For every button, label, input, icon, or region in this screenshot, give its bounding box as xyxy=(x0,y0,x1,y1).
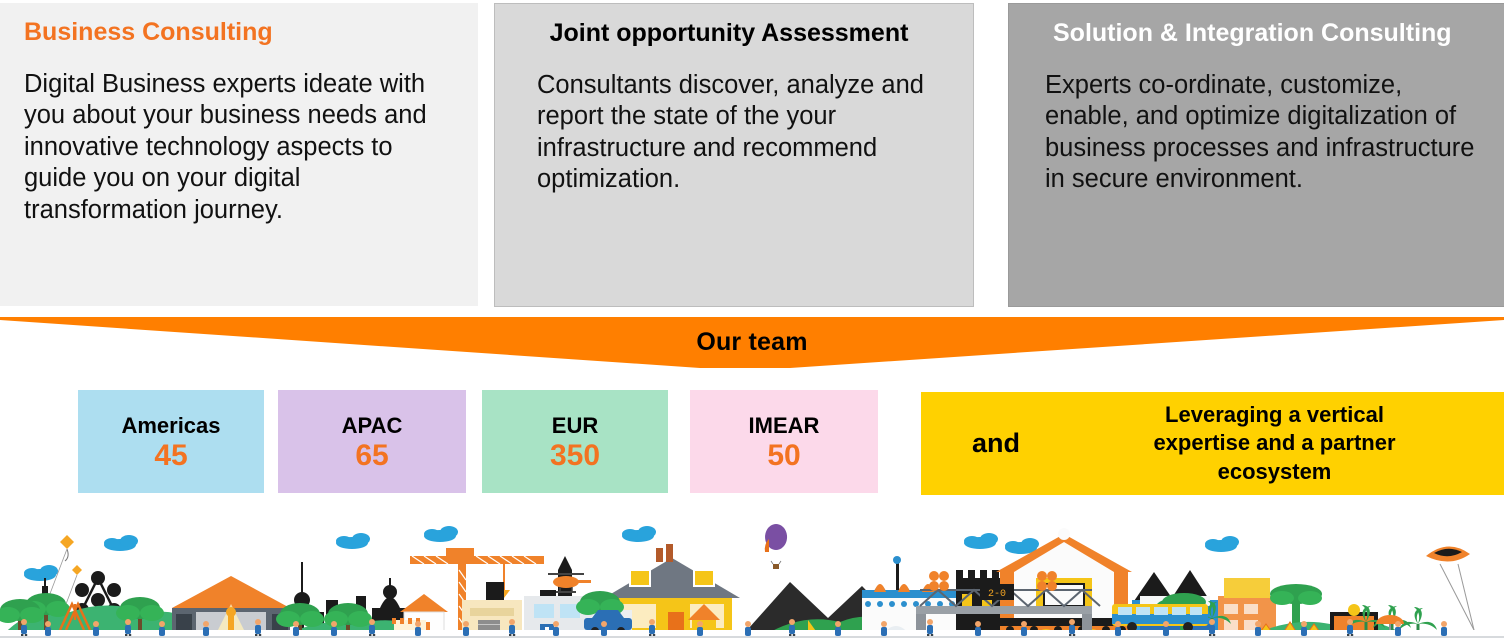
stat-box-imear: IMEAR 50 xyxy=(690,390,878,493)
panel-body-solution-integration-consulting: Experts co-ordinate, customize, enable, … xyxy=(1031,70,1482,196)
partner-conjunction-label: and xyxy=(921,428,1071,459)
stat-box-eur: EUR 350 xyxy=(482,390,668,493)
cityscape-artwork: 2-0 xyxy=(0,500,1504,638)
partner-ecosystem-text: Leveraging a vertical expertise and a pa… xyxy=(1071,401,1504,487)
our-team-banner: Our team xyxy=(0,314,1504,372)
stat-value-eur: 350 xyxy=(550,439,600,473)
panel-joint-opportunity-assessment: Joint opportunity Assessment Consultants… xyxy=(494,3,974,307)
panel-body-joint-opportunity-assessment: Consultants discover, analyze and report… xyxy=(517,70,951,196)
partner-ecosystem-box: and Leveraging a vertical expertise and … xyxy=(921,392,1504,495)
stat-value-apac: 65 xyxy=(355,439,388,473)
stat-label-imear: IMEAR xyxy=(749,414,820,439)
stat-value-imear: 50 xyxy=(767,439,800,473)
stat-box-apac: APAC 65 xyxy=(278,390,466,493)
stat-label-eur: EUR xyxy=(552,414,598,439)
stat-label-apac: APAC xyxy=(342,414,403,439)
panel-solution-integration-consulting: Solution & Integration Consulting Expert… xyxy=(1008,3,1504,307)
svg-text:2-0: 2-0 xyxy=(988,589,1006,600)
panel-title-solution-integration-consulting: Solution & Integration Consulting xyxy=(1031,20,1482,48)
slide-canvas: Business Consulting Digital Business exp… xyxy=(0,0,1504,638)
panel-business-consulting: Business Consulting Digital Business exp… xyxy=(0,3,478,306)
stat-label-americas: Americas xyxy=(121,414,220,439)
panel-title-joint-opportunity-assessment: Joint opportunity Assessment xyxy=(517,20,951,48)
stat-box-americas: Americas 45 xyxy=(78,390,264,493)
chevron-banner-shape xyxy=(0,314,1504,372)
panel-body-business-consulting: Digital Business experts ideate with you… xyxy=(22,69,456,227)
panel-title-business-consulting: Business Consulting xyxy=(22,19,456,47)
stat-value-americas: 45 xyxy=(154,439,187,473)
world-cityscape-illustration: 2-0 xyxy=(0,500,1504,638)
